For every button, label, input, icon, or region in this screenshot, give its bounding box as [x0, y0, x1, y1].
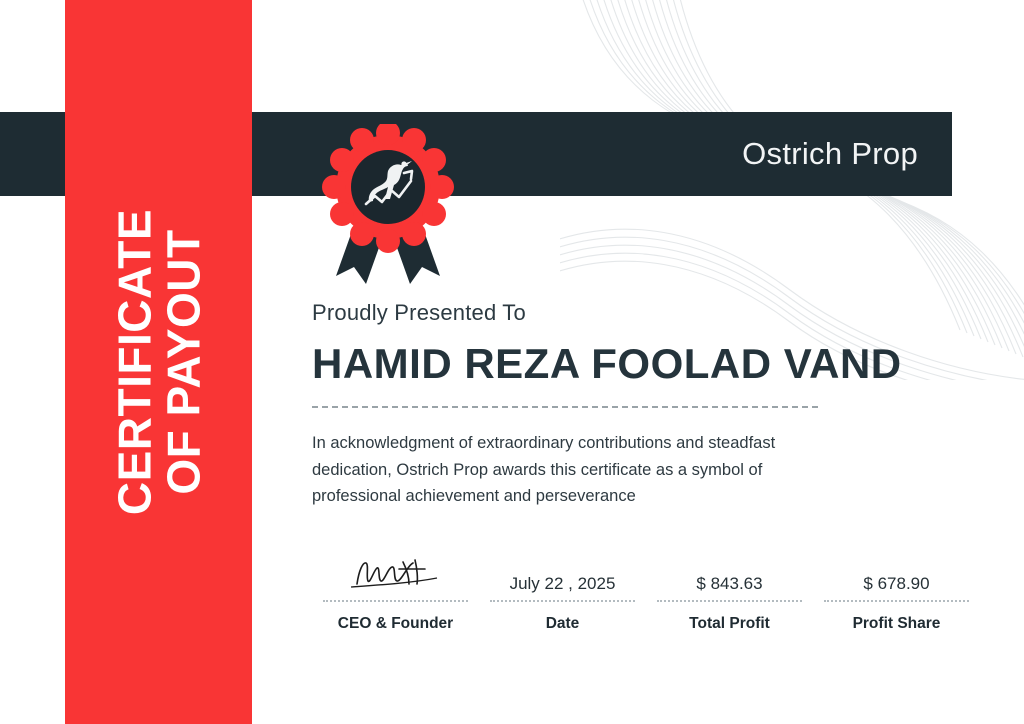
signature-icon — [341, 552, 451, 596]
certificate-of-payout: Ostrich Prop CERTIFICATE OF PAYOUT — [0, 0, 1024, 724]
citation-text: In acknowledgment of extraordinary contr… — [312, 430, 812, 510]
award-badge-icon — [318, 124, 458, 289]
certificate-title-line1: CERTIFICATE — [108, 209, 160, 515]
footer-separator — [490, 600, 635, 602]
name-divider — [312, 406, 818, 408]
footer-label: Total Profit — [689, 615, 770, 633]
footer-value: $ 843.63 — [696, 552, 762, 596]
footer-label: Date — [546, 615, 580, 633]
footer-column-total-profit: $ 843.63 Total Profit — [646, 552, 813, 633]
certificate-title: CERTIFICATE OF PAYOUT — [110, 209, 208, 515]
recipient-name: HAMID REZA FOOLAD VAND — [312, 340, 932, 388]
footer-label: Profit Share — [853, 615, 941, 633]
body-content: Proudly Presented To HAMID REZA FOOLAD V… — [312, 300, 932, 510]
footer-separator — [323, 600, 468, 602]
footer-block: CEO & Founder July 22 , 2025 Date $ 843.… — [312, 552, 982, 633]
footer-value: July 22 , 2025 — [510, 552, 616, 596]
footer-column-signature: CEO & Founder — [312, 552, 479, 633]
footer-value: $ 678.90 — [863, 552, 929, 596]
presented-to-label: Proudly Presented To — [312, 300, 932, 326]
certificate-title-line2: OF PAYOUT — [159, 209, 208, 515]
footer-separator — [824, 600, 969, 602]
footer-label: CEO & Founder — [338, 615, 453, 633]
side-banner: CERTIFICATE OF PAYOUT — [65, 0, 252, 724]
footer-column-date: July 22 , 2025 Date — [479, 552, 646, 633]
brand-name: Ostrich Prop — [742, 136, 918, 172]
footer-separator — [657, 600, 802, 602]
footer-column-profit-share: $ 678.90 Profit Share — [813, 552, 980, 633]
